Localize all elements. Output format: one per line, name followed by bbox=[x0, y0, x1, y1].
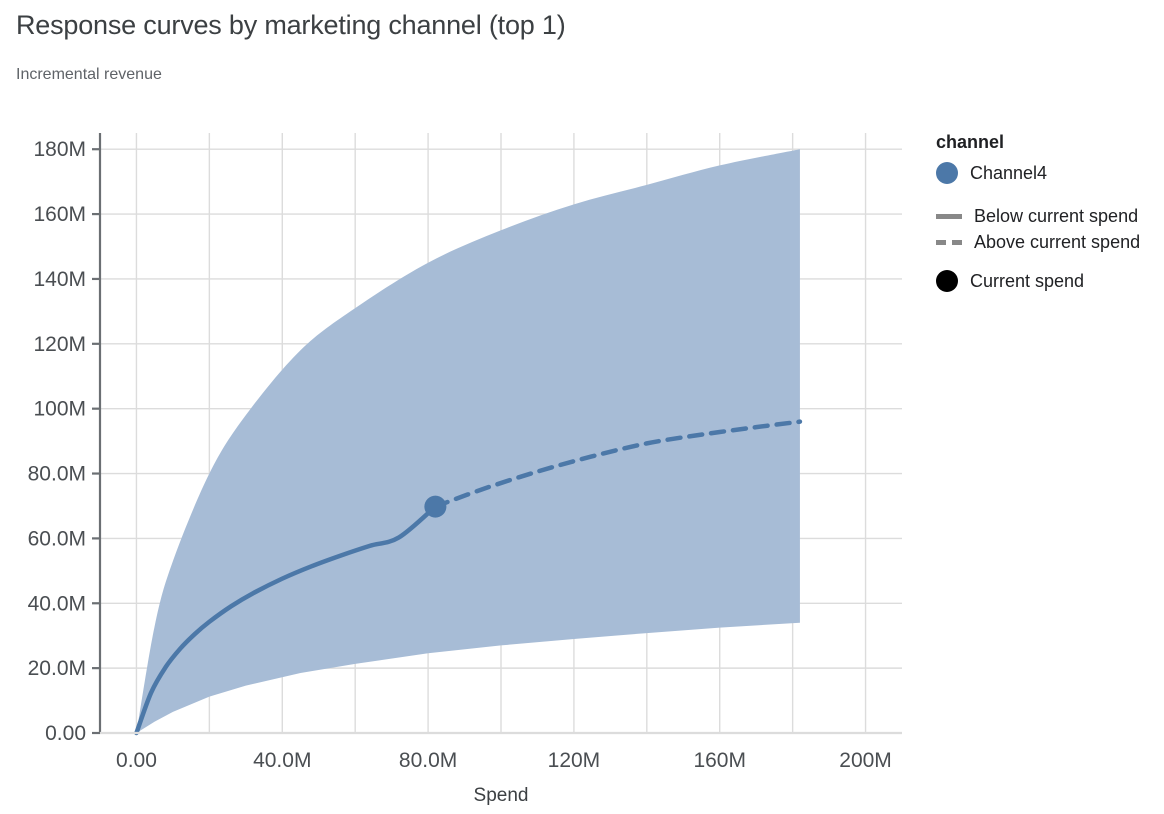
legend-item-label: Current spend bbox=[970, 271, 1084, 292]
current-spend-marker[interactable] bbox=[424, 496, 446, 518]
response-curve-chart: 0.0020.0M40.0M60.0M80.0M100M120M140M160M… bbox=[0, 0, 1164, 814]
x-tick-label: 120M bbox=[548, 749, 601, 772]
x-tick-label: 0.00 bbox=[116, 749, 157, 772]
series-color-dot-icon bbox=[936, 162, 958, 184]
y-tick-label: 0.00 bbox=[45, 722, 86, 745]
current-spend-dot-icon bbox=[936, 270, 958, 292]
legend-item-below-current-spend[interactable]: Below current spend bbox=[936, 206, 1138, 227]
legend-item-label: Above current spend bbox=[974, 232, 1140, 253]
y-tick-label: 80.0M bbox=[28, 463, 86, 486]
y-tick-label: 40.0M bbox=[28, 592, 86, 615]
x-tick-label: 40.0M bbox=[253, 749, 311, 772]
y-tick-label: 20.0M bbox=[28, 657, 86, 680]
legend-item-label: Below current spend bbox=[974, 206, 1138, 227]
x-tick-label: 160M bbox=[693, 749, 746, 772]
legend-item-channel4[interactable]: Channel4 bbox=[936, 162, 1047, 184]
solid-line-icon bbox=[936, 214, 962, 219]
legend-item-above-current-spend[interactable]: Above current spend bbox=[936, 232, 1140, 253]
x-tick-label: 80.0M bbox=[399, 749, 457, 772]
legend-item-current-spend[interactable]: Current spend bbox=[936, 270, 1084, 292]
legend-item-label: Channel4 bbox=[970, 163, 1047, 184]
y-tick-label: 160M bbox=[33, 203, 86, 226]
chart-plot-area: 0.0020.0M40.0M60.0M80.0M100M120M140M160M… bbox=[0, 0, 1164, 814]
x-axis-title: Spend bbox=[474, 785, 529, 806]
dashed-line-icon bbox=[936, 240, 962, 245]
x-tick-label: 200M bbox=[839, 749, 892, 772]
legend-title: channel bbox=[936, 132, 1004, 153]
y-tick-label: 140M bbox=[33, 268, 86, 291]
y-tick-label: 180M bbox=[33, 138, 86, 161]
y-tick-label: 100M bbox=[33, 398, 86, 421]
y-tick-label: 60.0M bbox=[28, 527, 86, 550]
y-tick-label: 120M bbox=[33, 333, 86, 356]
